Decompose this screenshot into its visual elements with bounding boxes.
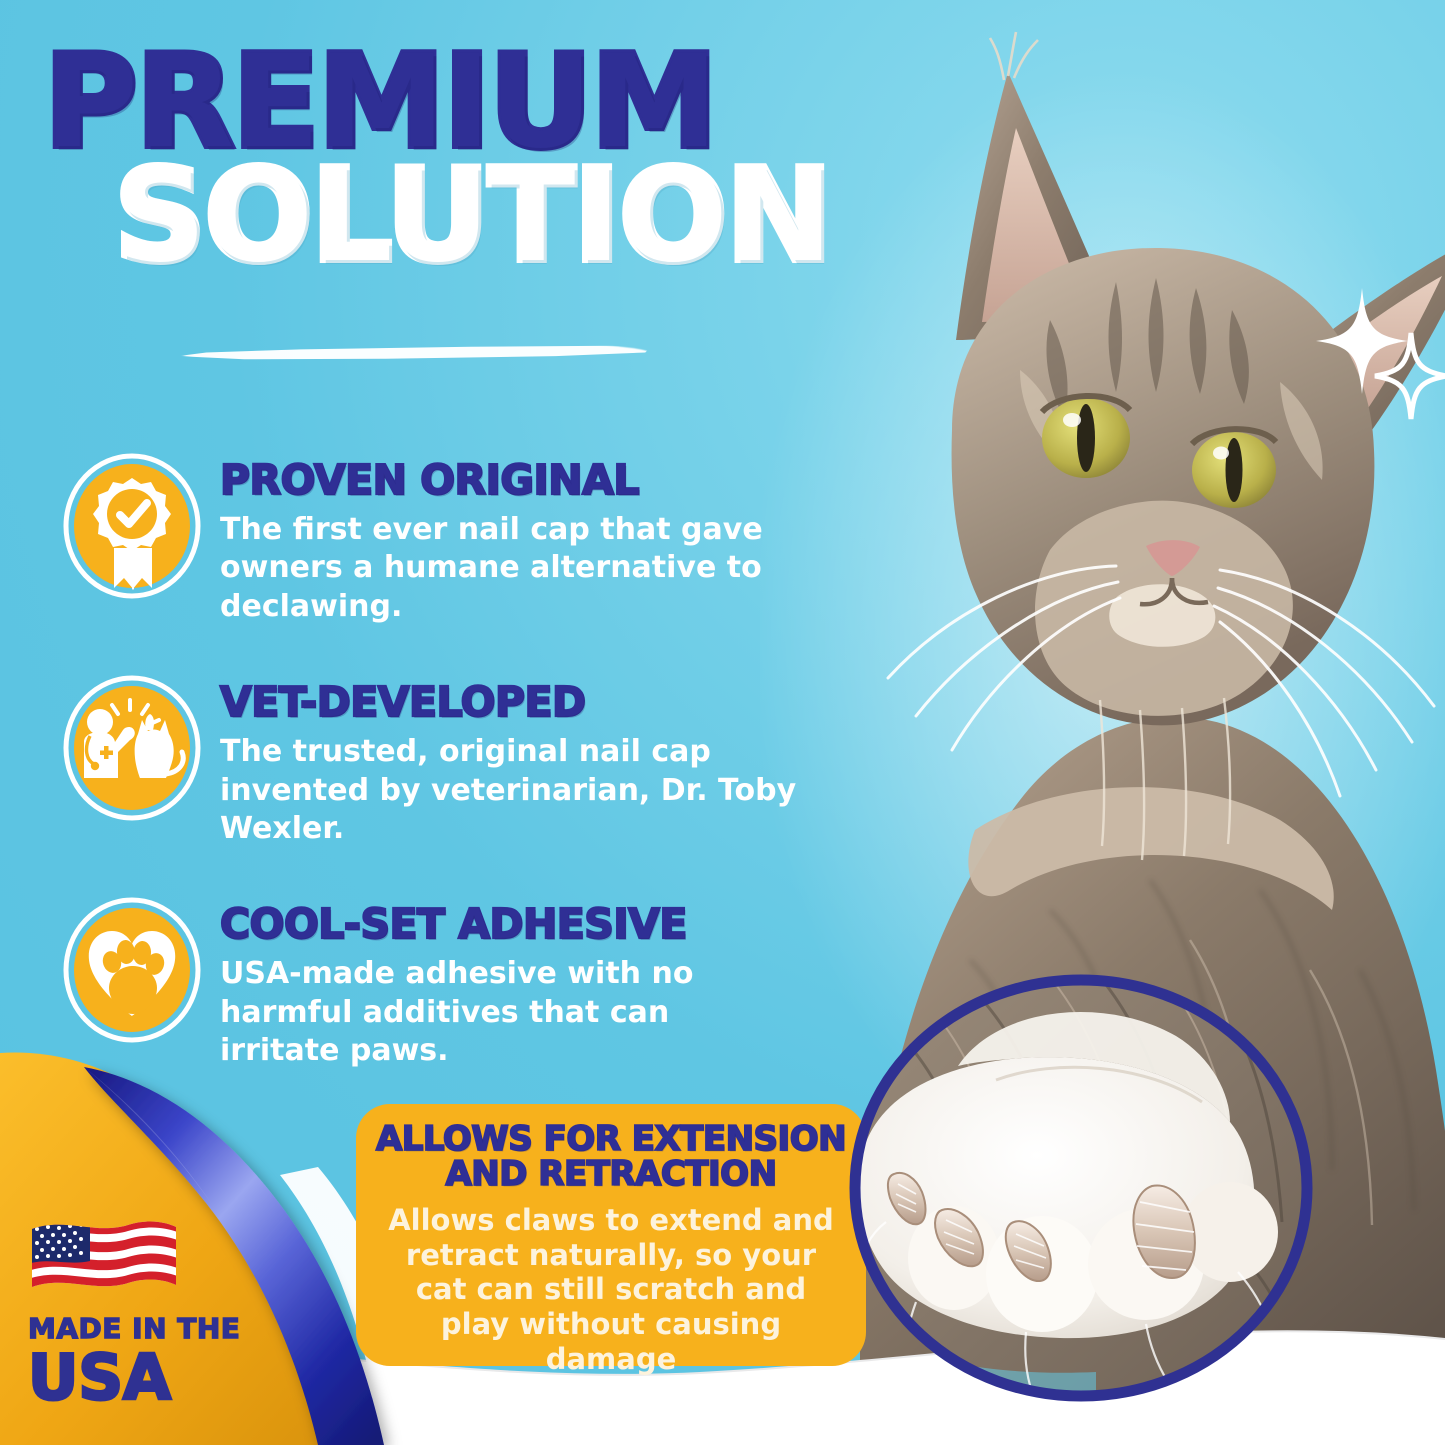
headline-block: PREMIUM SOLUTION [44, 48, 844, 272]
brush-stroke-divider [178, 340, 650, 366]
feature-title: VET-DEVELOPED [220, 682, 820, 723]
vet-high-five-cat-icon [62, 674, 202, 822]
usa-flag-icon [28, 1215, 180, 1307]
made-in-usa-line-2: USA [28, 1347, 258, 1409]
award-ribbon-check-icon [62, 452, 202, 600]
feature-title: PROVEN ORIGINAL [220, 460, 800, 501]
sparkle-star-outline-icon [1372, 330, 1445, 422]
made-in-usa-line-1: MADE IN THE [28, 1315, 258, 1343]
feature-body: The trusted, original nail cap invented … [220, 733, 820, 848]
feature-body: The first ever nail cap that gave owners… [220, 511, 800, 626]
cat-paw-with-nail-caps-inset [846, 972, 1316, 1404]
heart-paw-icon [62, 896, 202, 1044]
feature-text: VET-DEVELOPED The trusted, original nail… [220, 674, 820, 848]
extension-retraction-callout: ALLOWS FOR EXTENSION AND RETRACTION Allo… [356, 1104, 866, 1366]
feature-row: PROVEN ORIGINAL The first ever nail cap … [62, 452, 822, 626]
callout-body: Allows claws to extend and retract natur… [374, 1203, 848, 1377]
callout-title-line-2: AND RETRACTION [374, 1157, 848, 1192]
feature-row: VET-DEVELOPED The trusted, original nail… [62, 674, 822, 848]
feature-text: PROVEN ORIGINAL The first ever nail cap … [220, 452, 800, 626]
callout-title-line-1: ALLOWS FOR EXTENSION [374, 1122, 848, 1157]
feature-list: PROVEN ORIGINAL The first ever nail cap … [62, 452, 822, 1119]
headline-line-2: SOLUTION [114, 162, 844, 272]
infographic-canvas: PREMIUM SOLUTION PROVEN OR [0, 0, 1445, 1445]
made-in-usa-badge: MADE IN THE USA [28, 1215, 258, 1409]
feature-title: COOL-SET ADHESIVE [220, 904, 780, 945]
